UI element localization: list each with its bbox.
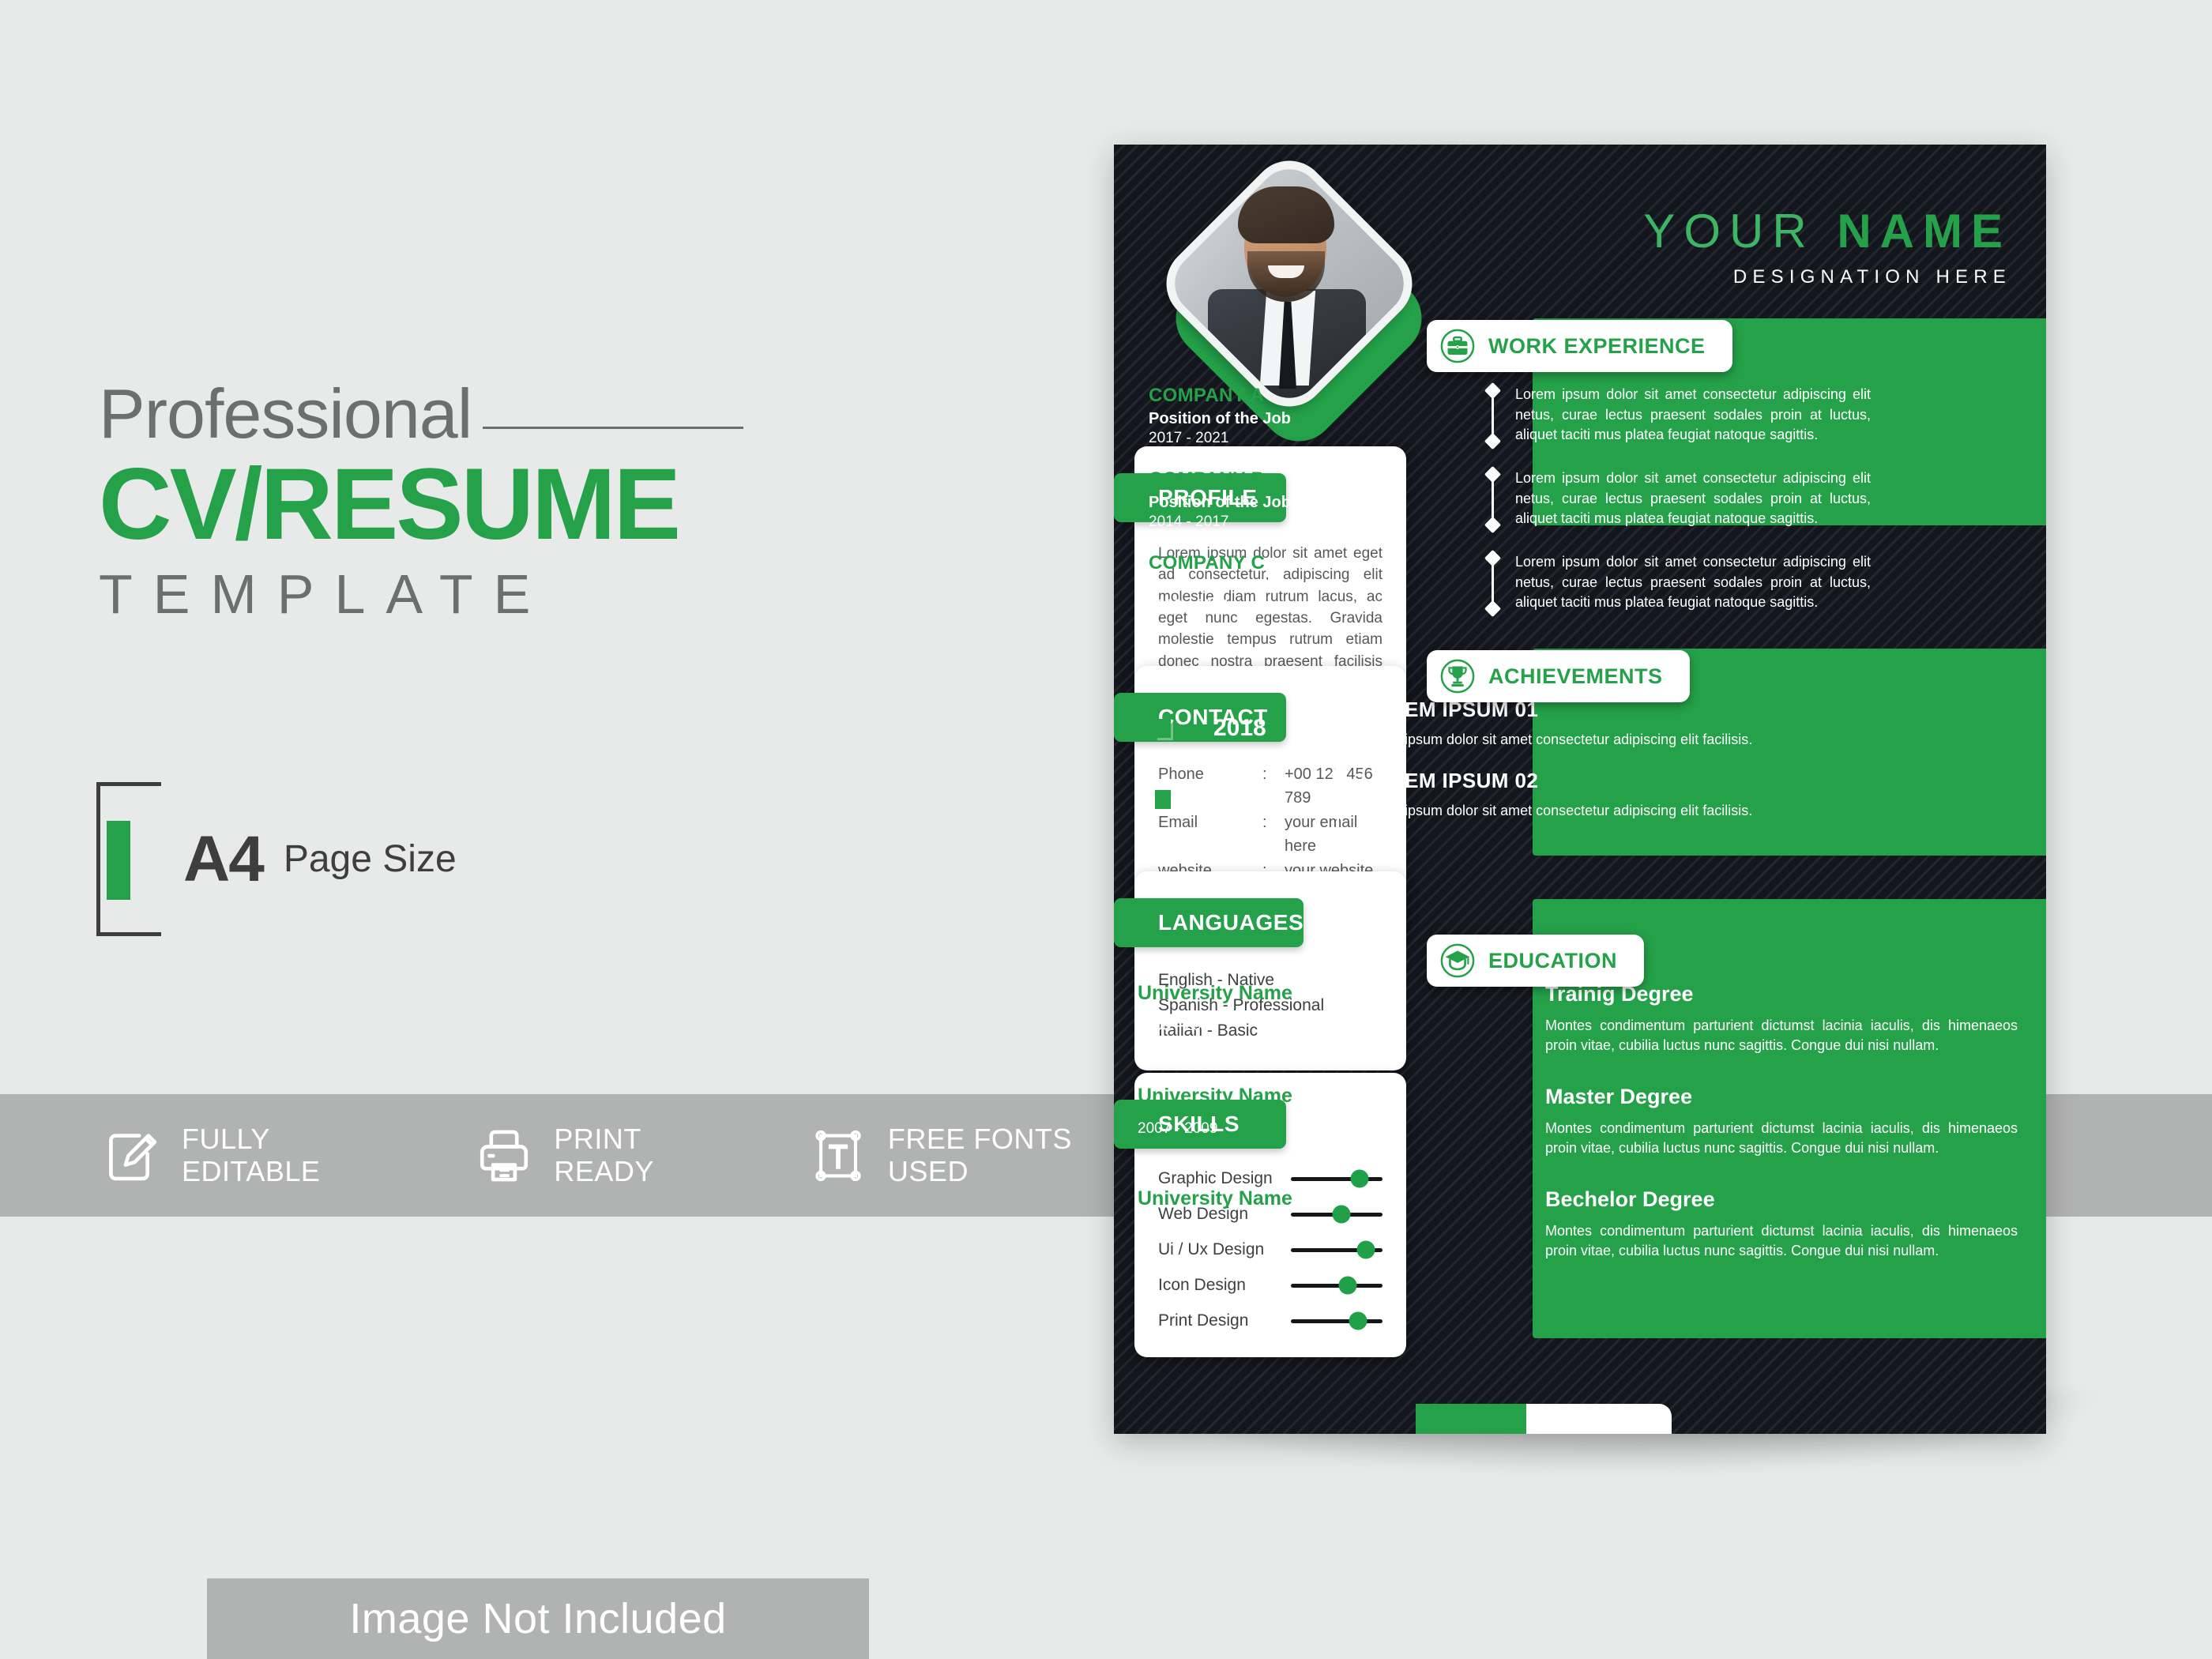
education-body: Master Degree Montes condimentum parturi… <box>1545 1085 2046 1158</box>
printer-icon <box>475 1127 533 1185</box>
achievements-badge-label: ACHIEVEMENTS <box>1488 664 1663 689</box>
education-meta: University Name 2007 - 2009 <box>1114 1085 1329 1158</box>
square-bullet-icon <box>1155 719 1171 738</box>
promo-block: Professional CV/RESUME TEMPLATE <box>99 379 968 626</box>
first-name: YOUR <box>1643 205 1815 258</box>
degree-name: Bechelor Degree <box>1545 1187 2018 1212</box>
feature-label: FULLY EDITABLE <box>182 1123 320 1187</box>
achievements-badge: ACHIEVEMENTS <box>1427 650 1690 702</box>
job-position: Position of the Job <box>1149 494 1362 512</box>
education-description: Montes condimentum parturient dictumst l… <box>1545 1221 2018 1261</box>
education-meta: University Name 2007 - 2009 <box>1114 1187 1329 1261</box>
graduation-cap-icon <box>1439 942 1476 979</box>
page-size-badge: A4 Page Size <box>96 782 457 936</box>
feature-line-2: EDITABLE <box>182 1156 320 1187</box>
skill-row: Graphic Design <box>1158 1169 1382 1188</box>
name-header: YOUR NAME DESIGNATION HERE <box>1643 208 2011 288</box>
work-experience-item: COMPANY B Position of the Job 2014 - 201… <box>1149 468 2018 531</box>
job-years: 2017 - 2021 <box>1149 430 1362 447</box>
skill-row: Icon Design <box>1158 1276 1382 1295</box>
achievement-year-block: 2018 <box>1114 698 1329 742</box>
bottom-tab-accent <box>1416 1404 1526 1434</box>
full-name: YOUR NAME <box>1643 208 2011 255</box>
feature-print-ready: PRINT READY <box>475 1123 654 1187</box>
promo-headline-professional: Professional <box>99 379 968 449</box>
bracket-icon <box>96 782 161 936</box>
university-name: University Name <box>1138 982 1329 1005</box>
trophy-icon <box>1439 658 1476 694</box>
skill-row: Print Design <box>1158 1311 1382 1330</box>
degree-name: Master Degree <box>1545 1085 2018 1109</box>
education-years: 2008 - 2010 <box>1138 1018 1329 1035</box>
feature-label: PRINT READY <box>554 1123 654 1187</box>
work-experience-meta: COMPANY A Position of the Job 2017 - 202… <box>1149 385 1362 447</box>
page-size-value: A4 <box>183 822 263 897</box>
company-name: COMPANY B <box>1149 468 1362 491</box>
university-name: University Name <box>1138 1085 1329 1108</box>
promo-headline-cvresume: CV/RESUME <box>99 452 968 558</box>
achievement-body: LOREM IPSUM 02 Lorem ipsum dolor sit ame… <box>1360 769 1819 820</box>
achievement-year-block: 2014 <box>1114 769 1329 813</box>
job-position: Position of the Job <box>1149 577 1362 596</box>
skill-label: Icon Design <box>1158 1276 1291 1295</box>
slider-knob[interactable] <box>1338 1277 1356 1295</box>
education-item: University Name 2007 - 2009 Master Degre… <box>1114 1085 2046 1158</box>
skill-slider[interactable] <box>1291 1284 1382 1288</box>
education-item: University Name 2008 - 2010 Trainig Degr… <box>1114 982 2046 1055</box>
feature-line-1: PRINT <box>554 1123 654 1155</box>
education-years: 2007 - 2009 <box>1138 1120 1329 1138</box>
education-badge: EDUCATION <box>1427 935 1644 987</box>
pencil-edit-icon <box>103 1127 161 1185</box>
job-years: 2010 - 2014 <box>1149 597 1362 615</box>
work-experience-description: Lorem ipsum dolor sit amet consectetur a… <box>1515 468 1871 531</box>
slider-knob[interactable] <box>1351 1170 1369 1188</box>
education-description: Montes condimentum parturient dictumst l… <box>1545 1016 2018 1055</box>
company-name: COMPANY A <box>1149 385 1362 407</box>
education-body: Trainig Degree Montes condimentum partur… <box>1545 982 2046 1055</box>
job-years: 2014 - 2017 <box>1149 513 1362 531</box>
image-not-included-text: Image Not Included <box>349 1594 726 1643</box>
education-meta: University Name 2008 - 2010 <box>1114 982 1329 1055</box>
designation: DESIGNATION HERE <box>1643 266 2011 288</box>
achievement-description: Lorem ipsum dolor sit amet consectetur a… <box>1360 801 1819 820</box>
work-experience-description: Lorem ipsum dolor sit amet consectetur a… <box>1515 385 1871 447</box>
timeline-marker <box>1329 769 1346 862</box>
bracket-green-bar <box>107 821 130 900</box>
image-not-included-banner: Image Not Included <box>207 1578 869 1659</box>
achievement-body: LOREM IPSUM 01 Lorem ipsum dolor sit ame… <box>1360 698 1819 749</box>
work-experience-item: COMPANY C Position of the Job 2010 - 201… <box>1149 552 2018 615</box>
achievement-year: 2014 <box>1213 786 1266 813</box>
education-item: University Name 2007 - 2009 Bechelor Deg… <box>1114 1187 2046 1261</box>
work-experience-description: Lorem ipsum dolor sit amet consectetur a… <box>1515 552 1871 615</box>
square-bullet-icon <box>1155 790 1171 809</box>
text-box-icon <box>809 1127 867 1185</box>
promo-headline-template: TEMPLATE <box>99 562 968 626</box>
education-years: 2007 - 2009 <box>1138 1223 1329 1240</box>
skill-slider[interactable] <box>1291 1177 1382 1181</box>
work-experience-badge: WORK EXPERIENCE <box>1427 320 1732 372</box>
feature-free-fonts: FREE FONTS USED <box>809 1123 1072 1187</box>
timeline-marker <box>1484 552 1501 615</box>
feature-fully-editable: FULLY EDITABLE <box>103 1123 320 1187</box>
education-description: Montes condimentum parturient dictumst l… <box>1545 1119 2018 1158</box>
photo-frame <box>1151 145 1428 423</box>
work-experience-item: COMPANY A Position of the Job 2017 - 202… <box>1149 385 2018 447</box>
work-experience-badge-label: WORK EXPERIENCE <box>1488 334 1706 359</box>
briefcase-icon <box>1439 328 1476 364</box>
skill-label: Print Design <box>1158 1311 1291 1330</box>
education-badge-label: EDUCATION <box>1488 949 1617 973</box>
resume-page: YOUR NAME DESIGNATION HERE PROFILE Lorem… <box>1114 145 2046 1434</box>
promo-rule <box>483 427 743 429</box>
slider-knob[interactable] <box>1349 1312 1367 1330</box>
feature-line-2: READY <box>554 1156 654 1187</box>
achievement-title: LOREM IPSUM 02 <box>1360 769 1819 793</box>
achievement-description: Lorem ipsum dolor sit amet consectetur a… <box>1360 730 1819 749</box>
achievement-year: 2018 <box>1213 715 1266 742</box>
timeline-marker <box>1484 468 1501 531</box>
page-size-label: Page Size <box>284 837 457 881</box>
achievement-item: 2014 LOREM IPSUM 02 Lorem ipsum dolor si… <box>1114 769 2046 862</box>
feature-line-1: FULLY <box>182 1123 320 1155</box>
education-body: Bechelor Degree Montes condimentum partu… <box>1545 1187 2046 1261</box>
last-name: NAME <box>1837 205 2011 258</box>
work-experience-meta: COMPANY C Position of the Job 2010 - 201… <box>1149 552 1362 615</box>
timeline-marker <box>1484 385 1501 447</box>
job-position: Position of the Job <box>1149 410 1362 428</box>
work-experience-meta: COMPANY B Position of the Job 2014 - 201… <box>1149 468 1362 531</box>
feature-label: FREE FONTS USED <box>888 1123 1072 1187</box>
promo-professional-text: Professional <box>99 379 472 449</box>
company-name: COMPANY C <box>1149 552 1362 574</box>
university-name: University Name <box>1138 1187 1329 1210</box>
skill-label: Graphic Design <box>1158 1169 1291 1188</box>
languages-tab: LANGUAGES <box>1114 898 1303 947</box>
skill-slider[interactable] <box>1291 1319 1382 1323</box>
feature-line-2: USED <box>888 1156 1072 1187</box>
feature-line-1: FREE FONTS <box>888 1123 1072 1155</box>
